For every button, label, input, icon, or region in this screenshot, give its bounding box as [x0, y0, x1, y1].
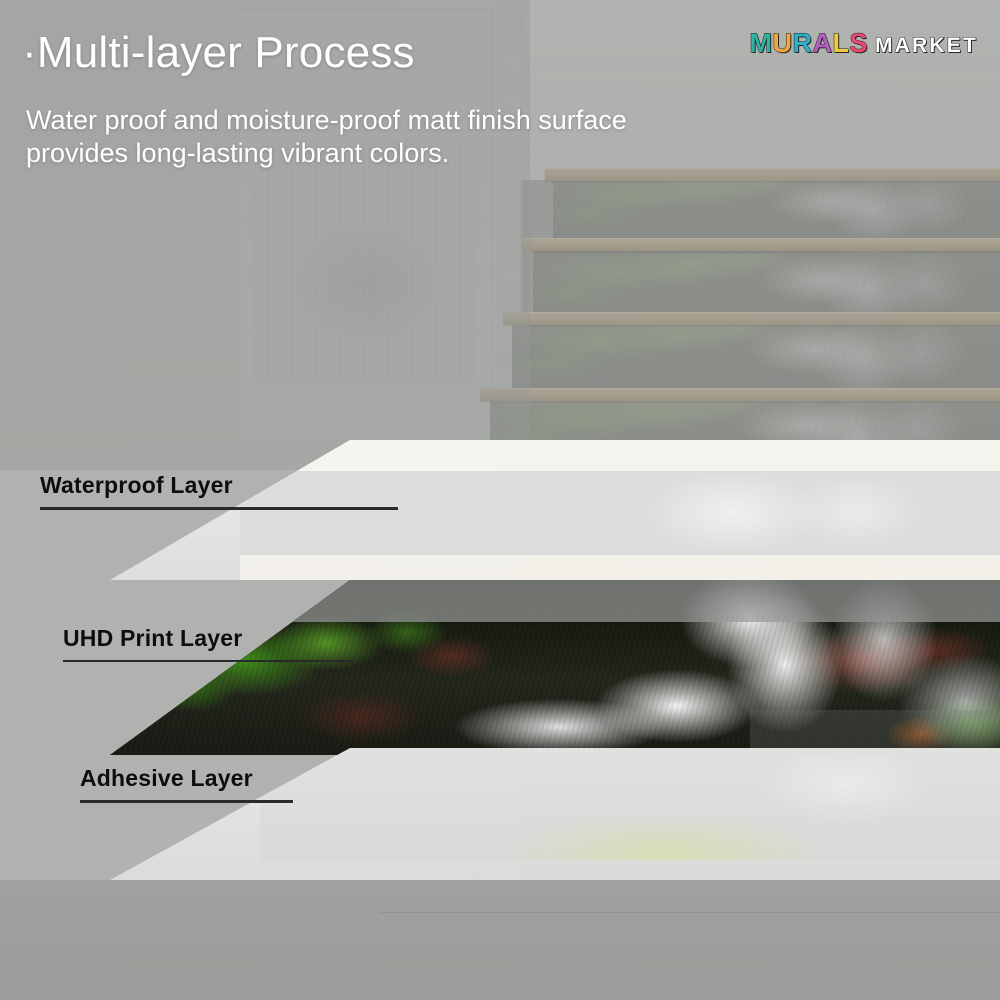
brand-logo-letter: L	[832, 30, 849, 57]
promo-banner: Waterproof Layer UHD Print Layer Adhesiv…	[0, 0, 1000, 1000]
page-title: ·Multi-layer Process	[22, 28, 415, 78]
label-adhesive-layer-text: Adhesive Layer	[80, 765, 293, 792]
page-subtitle: Water proof and moisture-proof matt fini…	[26, 104, 627, 171]
brand-logo-letter: S	[849, 30, 868, 57]
brand-logo-letter: M	[749, 30, 772, 57]
label-uhd-print-layer: UHD Print Layer	[63, 625, 316, 662]
layer-sheet-waterproof	[110, 440, 1000, 580]
label-waterproof-layer-rule	[40, 507, 398, 510]
brand-logo-letter: R	[792, 30, 812, 57]
label-uhd-print-layer-rule	[63, 660, 358, 662]
brand-logo-secondary: MARKET	[875, 35, 978, 56]
waterproof-sheet-surface	[240, 440, 1000, 580]
brand-logo[interactable]: MURALS MARKET	[749, 30, 978, 57]
label-waterproof-layer: Waterproof Layer	[40, 472, 398, 510]
brand-logo-letter: A	[812, 30, 832, 57]
adhesive-sheet-surface	[260, 752, 1000, 860]
label-adhesive-layer: Adhesive Layer	[80, 765, 293, 803]
layer-sheet-uhd-print	[110, 580, 1000, 755]
label-adhesive-layer-rule	[80, 800, 293, 803]
label-uhd-print-layer-text: UHD Print Layer	[63, 625, 316, 652]
brand-logo-primary: MURALS	[749, 30, 868, 57]
label-waterproof-layer-text: Waterproof Layer	[40, 472, 398, 499]
brand-logo-letter: U	[772, 30, 792, 57]
uhd-top-band	[270, 580, 1000, 622]
